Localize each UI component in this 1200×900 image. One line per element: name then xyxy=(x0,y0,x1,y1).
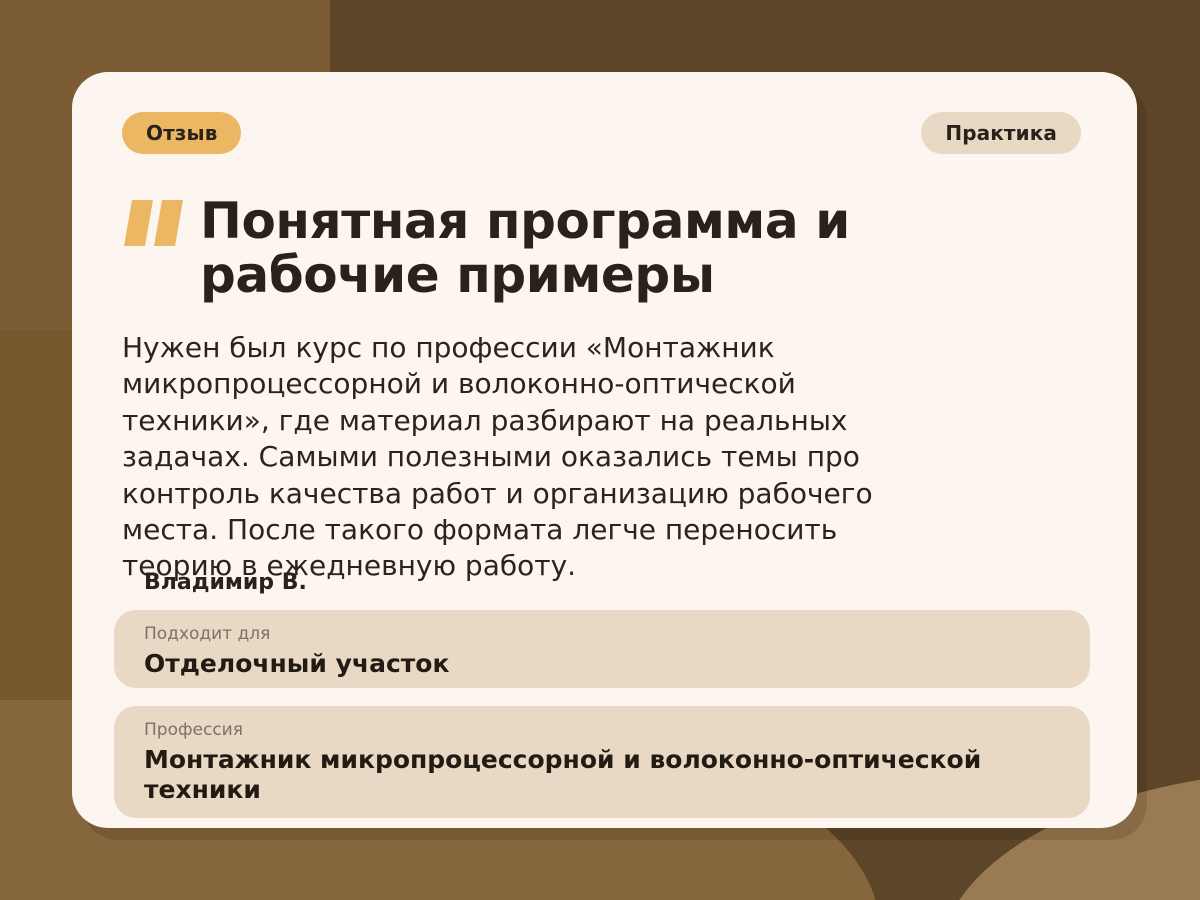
badge-category[interactable]: Практика xyxy=(921,112,1081,154)
review-card: Отзыв Практика Понятная программа и рабо… xyxy=(72,72,1137,828)
info-card-suitable-for: Подходит для Отделочный участок xyxy=(114,610,1090,688)
review-author: Владимир В. xyxy=(144,570,307,595)
info-card-label: Профессия xyxy=(144,720,1060,740)
info-card-value: Монтажник микропроцессорной и волоконно-… xyxy=(144,745,1060,804)
quote-open-icon xyxy=(122,192,200,246)
badge-review-type[interactable]: Отзыв xyxy=(122,112,241,154)
review-body-text: Нужен был курс по профессии «Монтажник м… xyxy=(122,330,952,585)
info-card-value: Отделочный участок xyxy=(144,649,1060,679)
badge-row: Отзыв Практика xyxy=(122,110,1081,156)
info-card-label: Подходит для xyxy=(144,624,1060,644)
page-title: Понятная программа и рабочие примеры xyxy=(200,194,1081,302)
info-card-profession: Профессия Монтажник микропроцессорной и … xyxy=(114,706,1090,818)
headline-block: Понятная программа и рабочие примеры xyxy=(122,192,1081,302)
